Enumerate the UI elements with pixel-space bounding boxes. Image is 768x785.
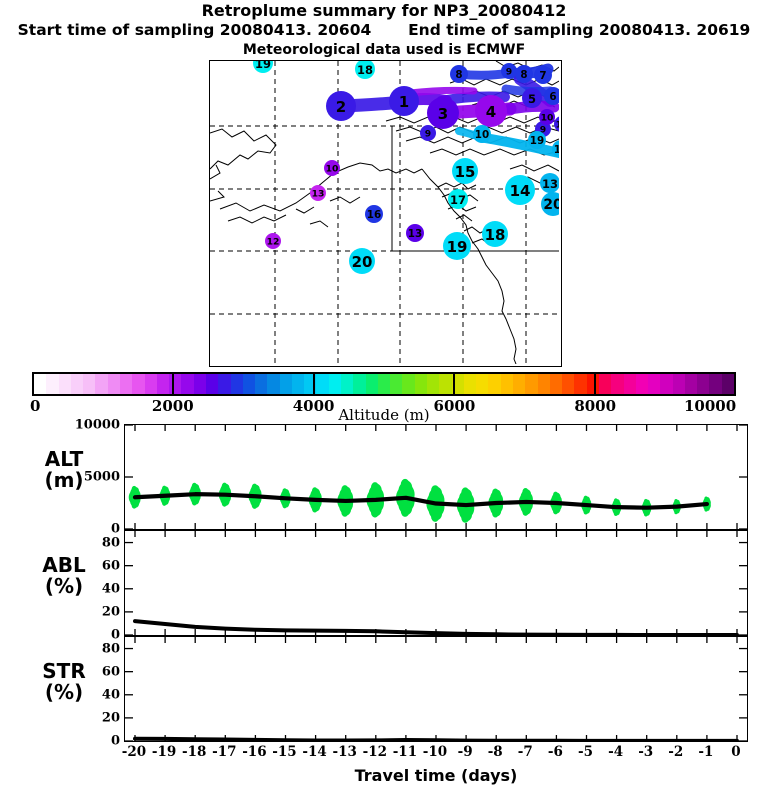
colorbar-swatch — [709, 374, 721, 394]
colorbar-swatch — [587, 374, 599, 394]
colorbar-major-tick — [453, 374, 455, 394]
alt-scatter-blob — [492, 488, 499, 497]
svg-text:10: 10 — [541, 113, 554, 124]
x-tick-label: -13 — [332, 744, 356, 760]
colorbar-swatch — [132, 374, 144, 394]
svg-text:13: 13 — [312, 189, 325, 200]
map-marker: 12 — [265, 233, 281, 249]
colorbar-swatch — [267, 374, 279, 394]
alt-scatter-blob — [341, 485, 348, 495]
svg-text:9: 9 — [425, 129, 431, 140]
map-marker: 14 — [505, 175, 535, 205]
map-marker: 1 — [389, 86, 419, 116]
colorbar-swatch — [206, 374, 218, 394]
svg-text:8: 8 — [520, 69, 527, 81]
map-marker: 19 — [253, 61, 273, 73]
colorbar-swatch — [673, 374, 685, 394]
y-tick-label: 80 — [62, 535, 120, 550]
y-tick-label: 0 — [62, 734, 120, 749]
x-tick-label: -2 — [668, 744, 683, 760]
alt-scatter-blob — [252, 484, 258, 492]
map-marker: 8 — [515, 65, 533, 83]
y-tick-label: 5000 — [62, 470, 120, 485]
colorbar-swatch — [660, 374, 672, 394]
colorbar-swatch — [95, 374, 107, 394]
colorbar-swatch — [218, 374, 230, 394]
y-tick-label: 80 — [62, 641, 120, 656]
start-time-label: Start time of sampling 20080413. 20604 — [18, 23, 372, 39]
x-tick-label: -18 — [182, 744, 206, 760]
colorbar-major-tick — [313, 374, 315, 394]
svg-text:2: 2 — [336, 98, 346, 116]
x-tick-label: -14 — [302, 744, 326, 760]
y-tick-label: 60 — [62, 558, 120, 573]
map-marker: 19 — [528, 131, 546, 149]
colorbar-swatch — [525, 374, 537, 394]
svg-text:8: 8 — [455, 69, 462, 81]
x-tick-label: -16 — [242, 744, 266, 760]
colorbar-swatch — [538, 374, 550, 394]
x-tick-label: -1 — [698, 744, 713, 760]
colorbar-swatch — [513, 374, 525, 394]
x-tick-label: -12 — [363, 744, 387, 760]
colorbar-major-tick — [172, 374, 174, 394]
map-marker: 10 — [324, 160, 340, 176]
str-line — [135, 739, 737, 741]
alt-scatter-blob — [312, 487, 318, 495]
map-marker: 18 — [355, 61, 375, 79]
y-tick-label: 20 — [62, 604, 120, 619]
colorbar-major-tick — [594, 374, 596, 394]
colorbar-swatch — [71, 374, 83, 394]
altitude-colorbar: 0200040006000800010000 — [32, 372, 736, 396]
svg-text:19: 19 — [255, 61, 271, 71]
svg-text:10: 10 — [475, 129, 489, 141]
alt-scatter-blob — [431, 485, 439, 496]
y-axis-labels-str: 020406080 — [58, 636, 120, 742]
x-tick-label: -3 — [638, 744, 653, 760]
colorbar-swatch — [108, 374, 120, 394]
map-marker: 15 — [452, 158, 478, 184]
colorbar-swatch — [304, 374, 316, 394]
map-marker: 5 — [522, 88, 542, 108]
alt-plot-panel[interactable] — [124, 424, 748, 530]
svg-text:4: 4 — [486, 103, 496, 121]
svg-text:19: 19 — [447, 238, 468, 256]
colorbar-swatch — [194, 374, 206, 394]
colorbar-swatch — [476, 374, 488, 394]
alt-plot-svg — [125, 425, 747, 529]
x-tick-label: -11 — [393, 744, 417, 760]
x-tick-label: -4 — [608, 744, 623, 760]
colorbar-swatch — [243, 374, 255, 394]
alt-scatter-blob — [584, 496, 588, 502]
alt-scatter-blob — [401, 479, 410, 490]
alt-scatter-blob — [704, 496, 707, 501]
colorbar-swatch — [562, 374, 574, 394]
page-title: Retroplume summary for NP3_20080412 — [0, 0, 768, 19]
colorbar-swatch — [329, 374, 341, 394]
svg-text:1: 1 — [399, 93, 409, 111]
colorbar-swatch — [120, 374, 132, 394]
colorbar-swatch — [46, 374, 58, 394]
colorbar-swatch — [341, 374, 353, 394]
colorbar-swatch — [427, 374, 439, 394]
abl-plot-panel[interactable] — [124, 530, 748, 636]
svg-text:5: 5 — [528, 92, 536, 106]
map-marker: 13 — [540, 173, 559, 193]
svg-text:10: 10 — [326, 164, 339, 175]
y-tick-label: 40 — [62, 581, 120, 596]
str-plot-svg — [125, 637, 747, 741]
map-marker: 20 — [541, 192, 559, 216]
retroplume-map[interactable]: 1234567898991010101312161319181715141320… — [209, 60, 562, 367]
map-marker: 13 — [310, 185, 326, 201]
x-tick-label: -8 — [488, 744, 503, 760]
str-plot-panel[interactable] — [124, 636, 748, 742]
map-marker: 18 — [482, 221, 508, 247]
colorbar-swatch — [231, 374, 243, 394]
alt-scatter-blob — [162, 486, 167, 492]
svg-text:18: 18 — [485, 226, 506, 244]
svg-text:18: 18 — [357, 63, 373, 77]
map-marker: 8 — [450, 65, 468, 83]
colorbar-swatch — [488, 374, 500, 394]
svg-text:13: 13 — [542, 177, 558, 191]
x-tick-label: -5 — [578, 744, 593, 760]
x-axis-title: Travel time (days) — [124, 766, 748, 785]
map-marker: 10 — [473, 125, 491, 143]
sampling-times: Start time of sampling 20080413. 20604 E… — [0, 19, 768, 39]
x-tick-label: -17 — [212, 744, 236, 760]
colorbar-swatch — [722, 374, 734, 394]
colorbar-swatch — [501, 374, 513, 394]
colorbar-swatch — [280, 374, 292, 394]
colorbar-swatch — [145, 374, 157, 394]
colorbar-swatch — [292, 374, 304, 394]
alt-scatter-blob — [674, 499, 677, 504]
svg-text:20: 20 — [543, 197, 559, 213]
title-block: Retroplume summary for NP3_20080412 Star… — [0, 0, 768, 57]
svg-text:15: 15 — [455, 163, 476, 181]
map-marker: 3 — [427, 97, 459, 129]
map-marker: 20 — [349, 248, 375, 274]
map-marker: 9 — [420, 125, 436, 141]
x-tick-label: -19 — [152, 744, 176, 760]
map-marker: 13 — [406, 224, 424, 242]
y-tick-label: 20 — [62, 710, 120, 725]
colorbar-swatch — [574, 374, 586, 394]
svg-text:3: 3 — [438, 105, 448, 123]
x-tick-label: -7 — [518, 744, 533, 760]
colorbar-swatch — [402, 374, 414, 394]
y-axis-labels-alt: 0500010000 — [58, 424, 120, 530]
map-marker: 10 — [539, 109, 555, 125]
colorbar-swatch — [59, 374, 71, 394]
y-tick-label: 40 — [62, 687, 120, 702]
map-marker: 4 — [475, 95, 507, 127]
svg-text:13: 13 — [408, 228, 422, 240]
svg-text:14: 14 — [510, 182, 531, 200]
colorbar-swatch — [181, 374, 193, 394]
abl-plot-svg — [125, 531, 747, 635]
colorbar-swatch — [157, 374, 169, 394]
colorbar-swatch — [439, 374, 451, 394]
colorbar-swatch — [255, 374, 267, 394]
svg-text:7: 7 — [539, 70, 546, 82]
svg-text:10: 10 — [556, 120, 559, 131]
met-data-label: Meteorological data used is ECMWF — [0, 39, 768, 57]
svg-text:12: 12 — [267, 237, 280, 248]
svg-text:6: 6 — [549, 91, 556, 103]
alt-scatter-blob — [644, 499, 648, 504]
colorbar-swatch — [599, 374, 611, 394]
x-axis-tick-labels: -20-19-18-17-16-15-14-13-12-11-10-9-8-7-… — [124, 744, 748, 762]
alt-scatter-blob — [132, 486, 137, 493]
colorbar-swatch — [83, 374, 95, 394]
x-tick-label: -20 — [122, 744, 146, 760]
colorbar-swatch — [353, 374, 365, 394]
map-marker: 7 — [534, 66, 552, 84]
alt-scatter-blob — [614, 498, 618, 503]
colorbar-swatch — [316, 374, 328, 394]
colorbar-swatch — [464, 374, 476, 394]
map-marker: 19 — [443, 232, 471, 260]
colorbar-swatch — [697, 374, 709, 394]
timeseries-area: ALT (m) ABL (%) STR (%) 0500010000 02040… — [0, 424, 768, 768]
alt-scatter-blob — [192, 483, 197, 490]
svg-text:20: 20 — [352, 253, 373, 271]
x-tick-label: -15 — [272, 744, 296, 760]
colorbar-swatch — [390, 374, 402, 394]
y-tick-label: 10000 — [62, 418, 120, 433]
x-tick-label: -9 — [458, 744, 473, 760]
alt-scatter-blob — [371, 482, 379, 493]
colorbar-swatch — [378, 374, 390, 394]
map-marker: 2 — [326, 91, 356, 121]
x-tick-label: -10 — [423, 744, 447, 760]
y-axis-labels-abl: 020406080 — [58, 530, 120, 636]
alt-scatter-blob — [461, 487, 469, 498]
alt-scatter-blob — [222, 483, 227, 490]
colorbar-swatch — [611, 374, 623, 394]
map-marker: 16 — [365, 205, 383, 223]
svg-text:17: 17 — [450, 193, 466, 207]
end-time-label: End time of sampling 20080413. 20619 — [408, 23, 750, 39]
colorbar-gradient — [32, 372, 736, 396]
svg-text:18: 18 — [554, 144, 559, 156]
alt-scatter-blob — [522, 488, 528, 496]
svg-text:9: 9 — [506, 67, 512, 78]
map-marker: 17 — [448, 189, 468, 209]
colorbar-swatch — [415, 374, 427, 394]
alt-scatter-blob — [282, 488, 287, 494]
x-tick-label: -6 — [548, 744, 563, 760]
colorbar-swatch — [624, 374, 636, 394]
svg-text:19: 19 — [530, 135, 544, 147]
y-tick-label: 60 — [62, 664, 120, 679]
colorbar-swatch — [648, 374, 660, 394]
colorbar-swatch — [34, 374, 46, 394]
alt-scatter-blob — [553, 492, 558, 499]
colorbar-swatch — [550, 374, 562, 394]
colorbar-swatch — [366, 374, 378, 394]
map-marker: 9 — [501, 63, 517, 79]
svg-text:16: 16 — [367, 209, 381, 221]
x-tick-label: 0 — [731, 744, 740, 760]
colorbar-swatch — [685, 374, 697, 394]
map-marker: 18 — [552, 140, 559, 158]
colorbar-swatch — [636, 374, 648, 394]
map-svg: 1234567898991010101312161319181715141320… — [210, 61, 559, 364]
